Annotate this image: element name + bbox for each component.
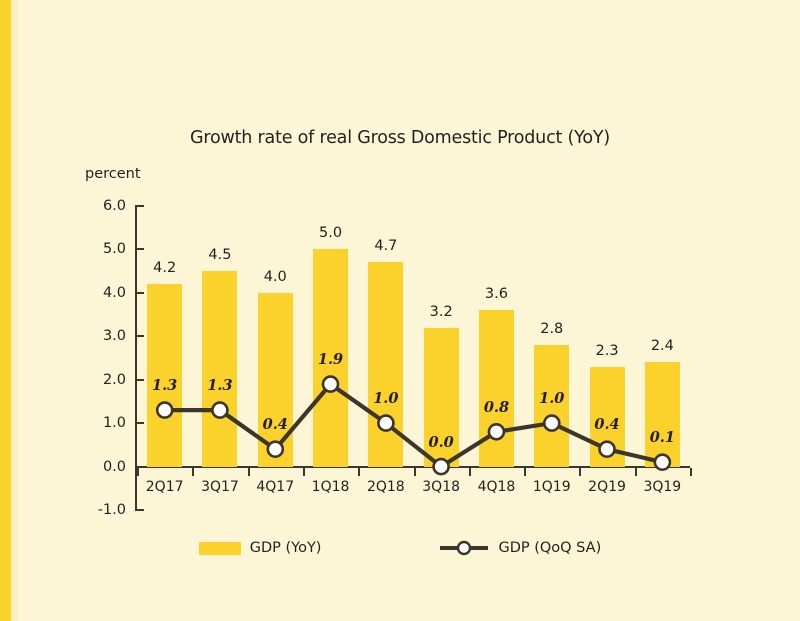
x-tick-mark — [469, 468, 471, 476]
line-value-label: 0.4 — [247, 416, 303, 433]
y-tick-label: 4.0 — [86, 285, 126, 301]
line-value-label: 0.0 — [413, 434, 469, 451]
legend-entry-gdp-yoy[interactable]: GDP (YoY) — [199, 540, 322, 556]
bar — [645, 362, 680, 466]
bar-value-label: 3.6 — [466, 286, 526, 302]
line-value-label: 1.3 — [137, 377, 193, 394]
x-tick-mark — [248, 468, 250, 476]
line-value-label: 1.9 — [303, 351, 359, 368]
y-tick-label: -1.0 — [86, 502, 126, 518]
bar — [479, 310, 514, 466]
y-tick-mark — [135, 248, 144, 250]
y-axis-tick-labels: 6.05.04.03.02.01.00.0-1.0 — [86, 205, 126, 510]
bar-value-label: 2.4 — [632, 338, 692, 354]
bar-value-label: 2.3 — [577, 343, 637, 359]
y-tick-label: 5.0 — [86, 241, 126, 257]
legend-label-gdp-qoq-sa: GDP (QoQ SA) — [498, 540, 601, 556]
x-tick-label: 3Q19 — [622, 479, 702, 495]
x-tick-mark — [414, 468, 416, 476]
x-tick-mark — [635, 468, 637, 476]
y-tick-label: 2.0 — [86, 372, 126, 388]
line-value-label: 1.0 — [524, 390, 580, 407]
line-value-label: 0.4 — [579, 416, 635, 433]
chart-title: Growth rate of real Gross Domestic Produ… — [0, 128, 800, 148]
bar-value-label: 4.5 — [190, 247, 250, 263]
x-tick-mark — [358, 468, 360, 476]
y-tick-label: 6.0 — [86, 198, 126, 214]
chart-page: Growth rate of real Gross Domestic Produ… — [0, 0, 800, 621]
line-value-label: 0.1 — [634, 429, 690, 446]
legend-entry-gdp-qoq-sa[interactable]: GDP (QoQ SA) — [439, 540, 601, 556]
bar-value-label: 5.0 — [301, 225, 361, 241]
left-accent-stripe — [0, 0, 11, 621]
bar-value-label: 4.2 — [135, 260, 195, 276]
line-value-label: 0.8 — [468, 399, 524, 416]
y-tick-mark — [135, 205, 144, 207]
bar-value-label: 2.8 — [522, 321, 582, 337]
bar — [147, 284, 182, 466]
y-tick-label: 3.0 — [86, 328, 126, 344]
line-marker-swatch-icon — [439, 540, 489, 556]
y-axis-unit-label: percent — [85, 166, 141, 182]
line-value-label: 1.0 — [358, 390, 414, 407]
y-tick-label: 1.0 — [86, 415, 126, 431]
x-tick-mark — [137, 468, 139, 476]
line-value-label: 1.3 — [192, 377, 248, 394]
x-tick-mark — [579, 468, 581, 476]
y-tick-label: 0.0 — [86, 459, 126, 475]
y-tick-mark — [135, 509, 144, 511]
y-tick-mark — [135, 422, 144, 424]
legend-label-gdp-yoy: GDP (YoY) — [250, 540, 322, 556]
x-tick-mark — [690, 468, 692, 476]
bar — [202, 271, 237, 466]
y-tick-mark — [135, 335, 144, 337]
bar — [368, 262, 403, 466]
bar-value-label: 4.7 — [356, 238, 416, 254]
left-accent-stripe-inner — [11, 0, 18, 621]
x-tick-mark — [524, 468, 526, 476]
chart-legend: GDP (YoY) GDP (QoQ SA) — [0, 540, 800, 556]
y-tick-mark — [135, 292, 144, 294]
bar-value-label: 4.0 — [245, 269, 305, 285]
bar — [258, 293, 293, 467]
bar-value-label: 3.2 — [411, 304, 471, 320]
bar-swatch-icon — [199, 542, 241, 555]
x-tick-mark — [303, 468, 305, 476]
x-tick-mark — [192, 468, 194, 476]
